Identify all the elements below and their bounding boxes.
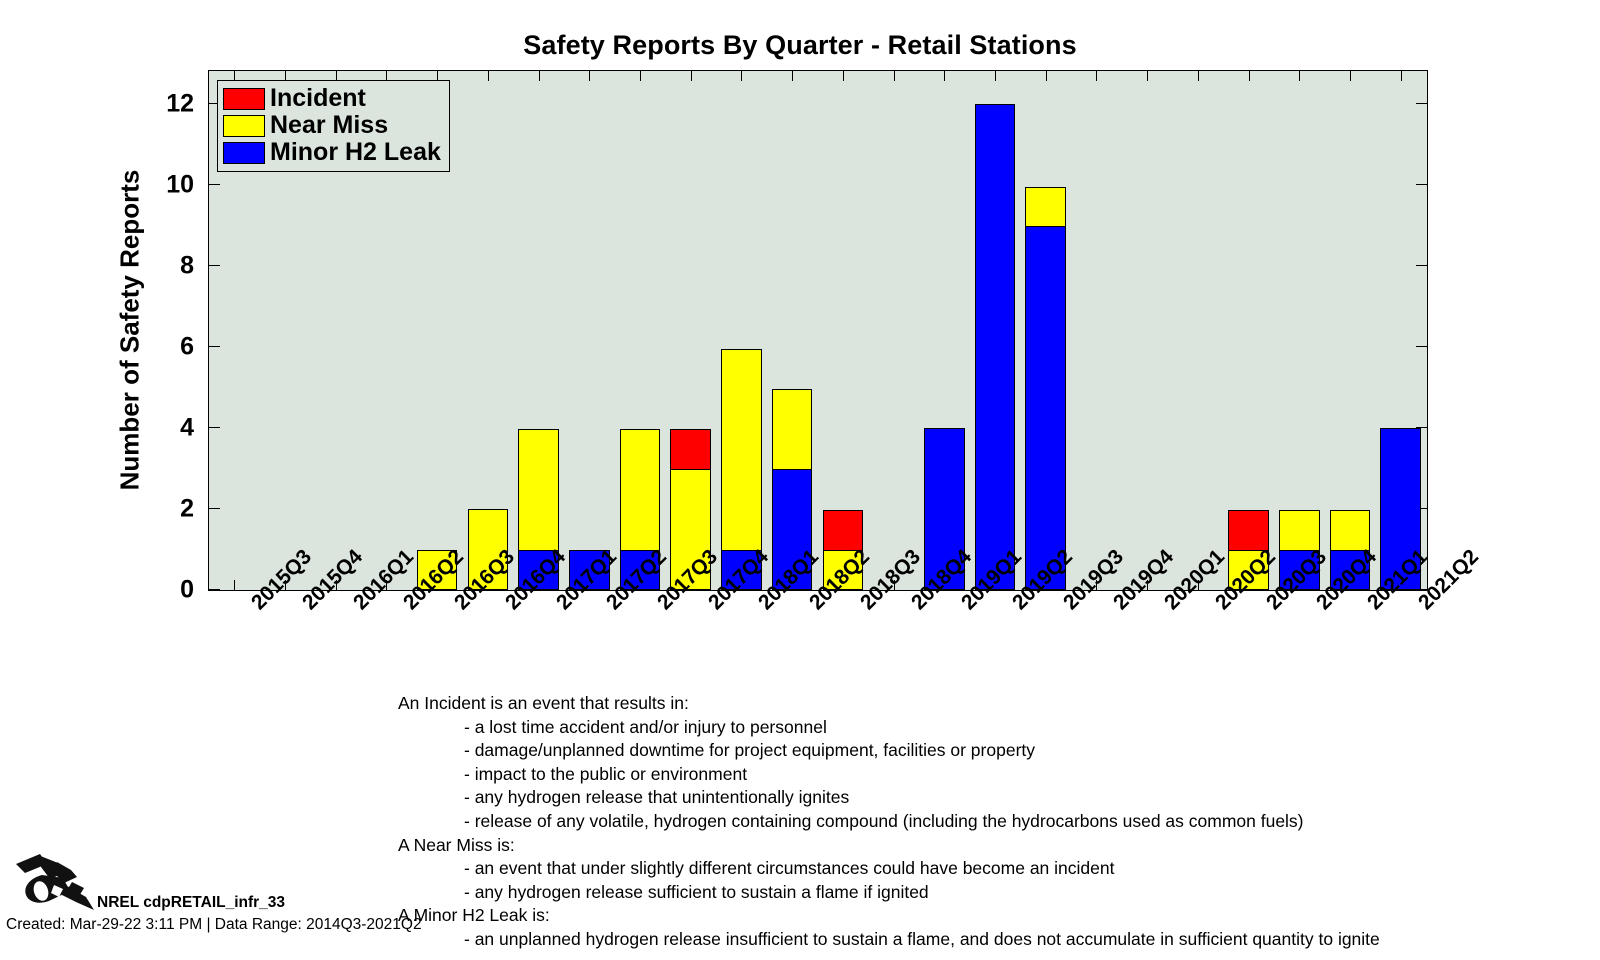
x-tick-mark — [843, 71, 844, 81]
y-tick-label: 12 — [146, 89, 194, 118]
x-tick-mark — [1198, 71, 1199, 81]
x-tick-mark — [1147, 71, 1148, 81]
definition-item: - an event that under slightly different… — [398, 857, 1588, 881]
x-tick-label: 2021Q2 — [1414, 598, 1431, 615]
x-tick-mark — [691, 71, 692, 81]
bar-segment-minor-h2-leak[interactable] — [1025, 226, 1066, 590]
definitions-block: An Incident is an event that results in:… — [398, 692, 1588, 952]
legend-swatch-minor-h2-leak — [223, 142, 265, 164]
y-tick-mark — [209, 184, 220, 185]
x-tick-label: 2017Q2 — [602, 598, 619, 615]
x-tick-label: 2019Q1 — [957, 598, 974, 615]
definition-heading-incident: An Incident is an event that results in: — [398, 692, 1588, 716]
footer-report-id: NREL cdpRETAIL_infr_33 — [97, 894, 285, 912]
y-tick-label: 8 — [146, 251, 194, 280]
definition-item: - impact to the public or environment — [398, 763, 1588, 787]
x-tick-label: 2019Q2 — [1008, 598, 1025, 615]
x-tick-mark — [1249, 71, 1250, 81]
x-tick-label: 2016Q4 — [501, 598, 518, 615]
bar-segment-near-miss[interactable] — [620, 429, 661, 550]
x-tick-label: 2020Q3 — [1262, 598, 1279, 615]
bar-segment-near-miss[interactable] — [1025, 187, 1066, 227]
x-tick-label: 2021Q1 — [1363, 598, 1380, 615]
x-tick-mark — [539, 71, 540, 81]
x-tick-mark — [234, 580, 235, 590]
x-tick-mark — [792, 71, 793, 81]
x-tick-mark — [1350, 71, 1351, 81]
bar-stack[interactable] — [975, 104, 1016, 590]
bar-segment-incident[interactable] — [670, 429, 711, 469]
y-tick-mark — [1416, 265, 1427, 266]
x-tick-mark — [488, 71, 489, 81]
x-tick-mark — [1046, 71, 1047, 81]
legend-swatch-near-miss — [223, 115, 265, 137]
y-tick-mark — [1416, 346, 1427, 347]
fuel-nozzle-icon — [14, 850, 106, 912]
x-tick-label: 2015Q3 — [247, 598, 264, 615]
y-tick-mark — [209, 589, 220, 590]
x-tick-label: 2017Q3 — [653, 598, 670, 615]
x-tick-mark — [1401, 71, 1402, 81]
definition-item: - a lost time accident and/or injury to … — [398, 716, 1588, 740]
x-tick-mark — [741, 71, 742, 81]
bar-segment-near-miss[interactable] — [518, 429, 559, 550]
y-tick-mark — [209, 427, 220, 428]
legend-item-minor-h2-leak: Minor H2 Leak — [223, 139, 441, 166]
legend-swatch-incident — [223, 88, 265, 110]
legend-label-minor-h2-leak: Minor H2 Leak — [270, 140, 441, 165]
x-tick-label: 2018Q4 — [907, 598, 924, 615]
legend-item-near-miss: Near Miss — [223, 112, 441, 139]
y-tick-mark — [1416, 184, 1427, 185]
chart-page: Safety Reports By Quarter - Retail Stati… — [0, 0, 1600, 960]
x-tick-label: 2016Q1 — [349, 598, 366, 615]
x-tick-mark — [640, 71, 641, 81]
legend-label-incident: Incident — [270, 86, 366, 111]
x-tick-label: 2020Q4 — [1312, 598, 1329, 615]
x-tick-label: 2020Q1 — [1160, 598, 1177, 615]
x-tick-label: 2018Q3 — [856, 598, 873, 615]
x-tick-label: 2018Q2 — [805, 598, 822, 615]
y-tick-label: 10 — [146, 170, 194, 199]
y-tick-label: 2 — [146, 494, 194, 523]
x-tick-label: 2019Q3 — [1059, 598, 1076, 615]
y-tick-label: 0 — [146, 575, 194, 604]
bar-segment-near-miss[interactable] — [772, 389, 813, 470]
y-tick-mark — [209, 508, 220, 509]
x-tick-mark — [995, 71, 996, 81]
page-title: Safety Reports By Quarter - Retail Stati… — [0, 30, 1600, 61]
x-tick-label: 2020Q2 — [1211, 598, 1228, 615]
y-tick-label: 6 — [146, 332, 194, 361]
y-tick-mark — [209, 346, 220, 347]
legend-label-near-miss: Near Miss — [270, 113, 388, 138]
y-tick-mark — [1416, 103, 1427, 104]
bar-segment-near-miss[interactable] — [721, 349, 762, 551]
x-tick-label: 2018Q1 — [754, 598, 771, 615]
x-tick-mark — [1299, 71, 1300, 81]
x-tick-mark — [589, 71, 590, 81]
definition-heading-near-miss: A Near Miss is: — [398, 834, 1588, 858]
y-tick-mark — [209, 265, 220, 266]
x-tick-label: 2015Q4 — [298, 598, 315, 615]
y-tick-label: 4 — [146, 413, 194, 442]
definition-item: - any hydrogen release sufficient to sus… — [398, 881, 1588, 905]
legend-item-incident: Incident — [223, 85, 441, 112]
x-tick-mark — [944, 71, 945, 81]
x-tick-label: 2017Q4 — [704, 598, 721, 615]
x-tick-mark — [1096, 71, 1097, 81]
x-tick-label: 2017Q1 — [552, 598, 569, 615]
bar-stack[interactable] — [1025, 185, 1066, 590]
x-tick-mark — [894, 71, 895, 81]
definition-heading-minor-h2-leak: A Minor H2 Leak is: — [398, 904, 1588, 928]
chart-legend: Incident Near Miss Minor H2 Leak — [217, 80, 450, 172]
footer-created-info: Created: Mar-29-22 3:11 PM | Data Range:… — [6, 916, 422, 934]
definition-item: - damage/unplanned downtime for project … — [398, 739, 1588, 763]
x-tick-label: 2016Q3 — [450, 598, 467, 615]
x-tick-label: 2019Q4 — [1109, 598, 1126, 615]
definition-item: - release of any volatile, hydrogen cont… — [398, 810, 1588, 834]
x-tick-label: 2016Q2 — [399, 598, 416, 615]
y-axis-title: Number of Safety Reports — [115, 170, 146, 491]
bar-segment-minor-h2-leak[interactable] — [975, 104, 1016, 590]
definition-item: - an unplanned hydrogen release insuffic… — [398, 928, 1588, 952]
definition-item: - any hydrogen release that unintentiona… — [398, 786, 1588, 810]
plot-area: Incident Near Miss Minor H2 Leak — [208, 70, 1428, 591]
